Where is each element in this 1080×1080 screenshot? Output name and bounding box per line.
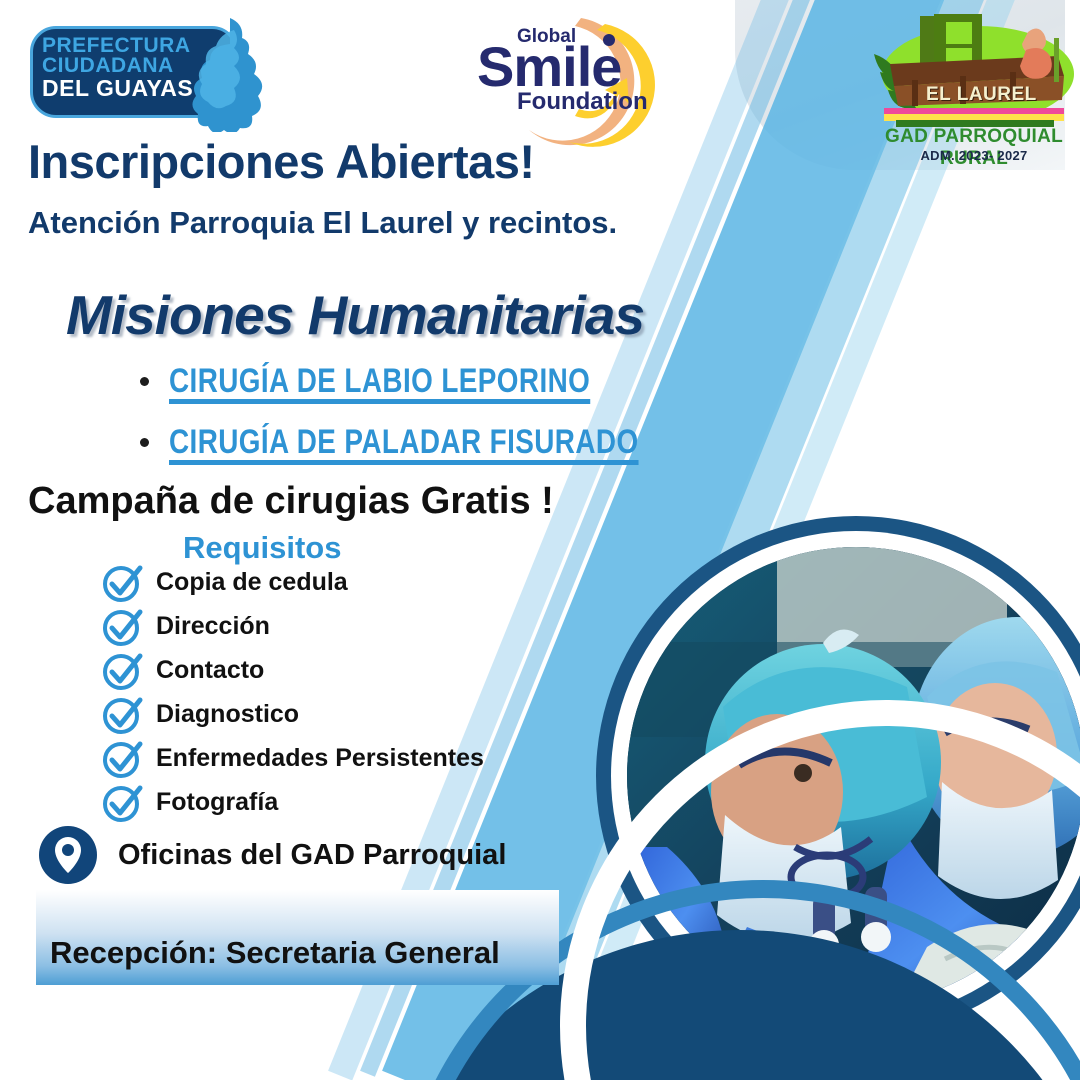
check-circle-icon — [100, 780, 146, 824]
surgeons-photo — [627, 547, 1080, 1005]
el-laurel-bridge-emblem-icon — [868, 14, 1080, 132]
poster-canvas: PREFECTURA CIUDADANA DEL GUAYAS Global S… — [0, 0, 1080, 1080]
list-item: Diagnostico — [100, 692, 660, 736]
list-item: Fotografía — [100, 780, 660, 824]
requirements-list: Copia de cedula Dirección Contacto Diagn… — [100, 560, 660, 824]
bullet-dot-icon — [140, 438, 149, 447]
bullet-dot-icon — [140, 377, 149, 386]
requirement-label: Contacto — [156, 656, 264, 685]
prefectura-logo: PREFECTURA CIUDADANA DEL GUAYAS — [22, 16, 270, 128]
list-item: CIRUGÍA DE LABIO LEPORINO — [140, 362, 760, 401]
gad-admin-period: ADM. 2023- 2027 — [868, 148, 1080, 163]
surgery-label: CIRUGÍA DE PALADAR FISURADO — [169, 423, 639, 462]
requirement-label: Copia de cedula — [156, 568, 348, 597]
headline-mission-title: Misiones Humanitarias — [66, 283, 644, 347]
surgery-list: CIRUGÍA DE LABIO LEPORINO CIRUGÍA DE PAL… — [140, 362, 760, 484]
check-circle-icon — [100, 692, 146, 736]
location-office-label: Oficinas del GAD Parroquial — [118, 839, 506, 872]
list-item: Enfermedades Persistentes — [100, 736, 660, 780]
list-item: CIRUGÍA DE PALADAR FISURADO — [140, 423, 760, 462]
requirement-label: Dirección — [156, 612, 270, 641]
list-item: Dirección — [100, 604, 660, 648]
reception-label: Recepción: Secretaria General — [50, 935, 500, 971]
surgery-label: CIRUGÍA DE LABIO LEPORINO — [169, 362, 590, 401]
check-circle-icon — [100, 604, 146, 648]
location-row: Oficinas del GAD Parroquial — [38, 825, 506, 885]
check-circle-icon — [100, 736, 146, 780]
smile-foundation-text: Foundation — [517, 88, 648, 116]
check-circle-icon — [100, 648, 146, 692]
requirement-label: Enfermedades Persistentes — [156, 744, 484, 773]
map-pin-icon — [38, 825, 98, 885]
list-item: Copia de cedula — [100, 560, 660, 604]
global-smile-foundation-logo: Global Smile Foundation — [455, 12, 705, 152]
requirement-label: Diagnostico — [156, 700, 299, 729]
list-item: Contacto — [100, 648, 660, 692]
headline-free-campaign: Campaña de cirugias Gratis ! — [28, 480, 554, 523]
requirement-label: Fotografía — [156, 788, 278, 817]
check-circle-icon — [100, 560, 146, 604]
headline-attention: Atención Parroquia El Laurel y recintos. — [28, 205, 617, 241]
gad-sign-label: EL LAUREL — [926, 84, 1037, 106]
guayas-province-map-icon — [190, 14, 276, 132]
headline-open-registration: Inscripciones Abiertas! — [28, 134, 535, 189]
gad-parroquial-logo: EL LAUREL GAD PARROQUIAL RURAL ADM. 2023… — [868, 14, 1080, 174]
